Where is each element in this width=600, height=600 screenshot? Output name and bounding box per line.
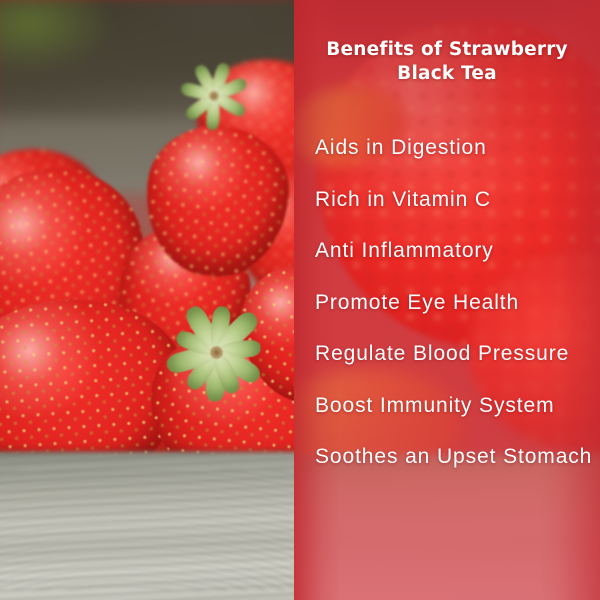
poster-title-line-1: Benefits of Strawberry xyxy=(294,38,600,62)
benefit-item: Regulate Blood Pressure xyxy=(294,338,600,390)
poster-title-line-2: Black Tea xyxy=(294,62,600,86)
benefit-item: Promote Eye Health xyxy=(294,287,600,339)
benefit-item: Boost Immunity System xyxy=(294,390,600,442)
wood-grain-rings xyxy=(0,470,294,590)
benefit-item: Soothes an Upset Stomach xyxy=(294,441,600,493)
benefit-item: Aids in Digestion xyxy=(294,132,600,184)
benefit-item: Anti Inflammatory xyxy=(294,235,600,287)
poster-title: Benefits of Strawberry Black Tea xyxy=(294,38,600,86)
strawberry-black-tea-poster: Benefits of Strawberry Black Tea Aids in… xyxy=(0,0,600,600)
benefits-list: Aids in Digestion Rich in Vitamin C Anti… xyxy=(294,132,600,493)
benefit-item: Rich in Vitamin C xyxy=(294,184,600,236)
benefits-panel: Benefits of Strawberry Black Tea Aids in… xyxy=(294,0,600,600)
panel-content: Benefits of Strawberry Black Tea Aids in… xyxy=(294,0,600,600)
strawberry-photo xyxy=(0,0,294,600)
